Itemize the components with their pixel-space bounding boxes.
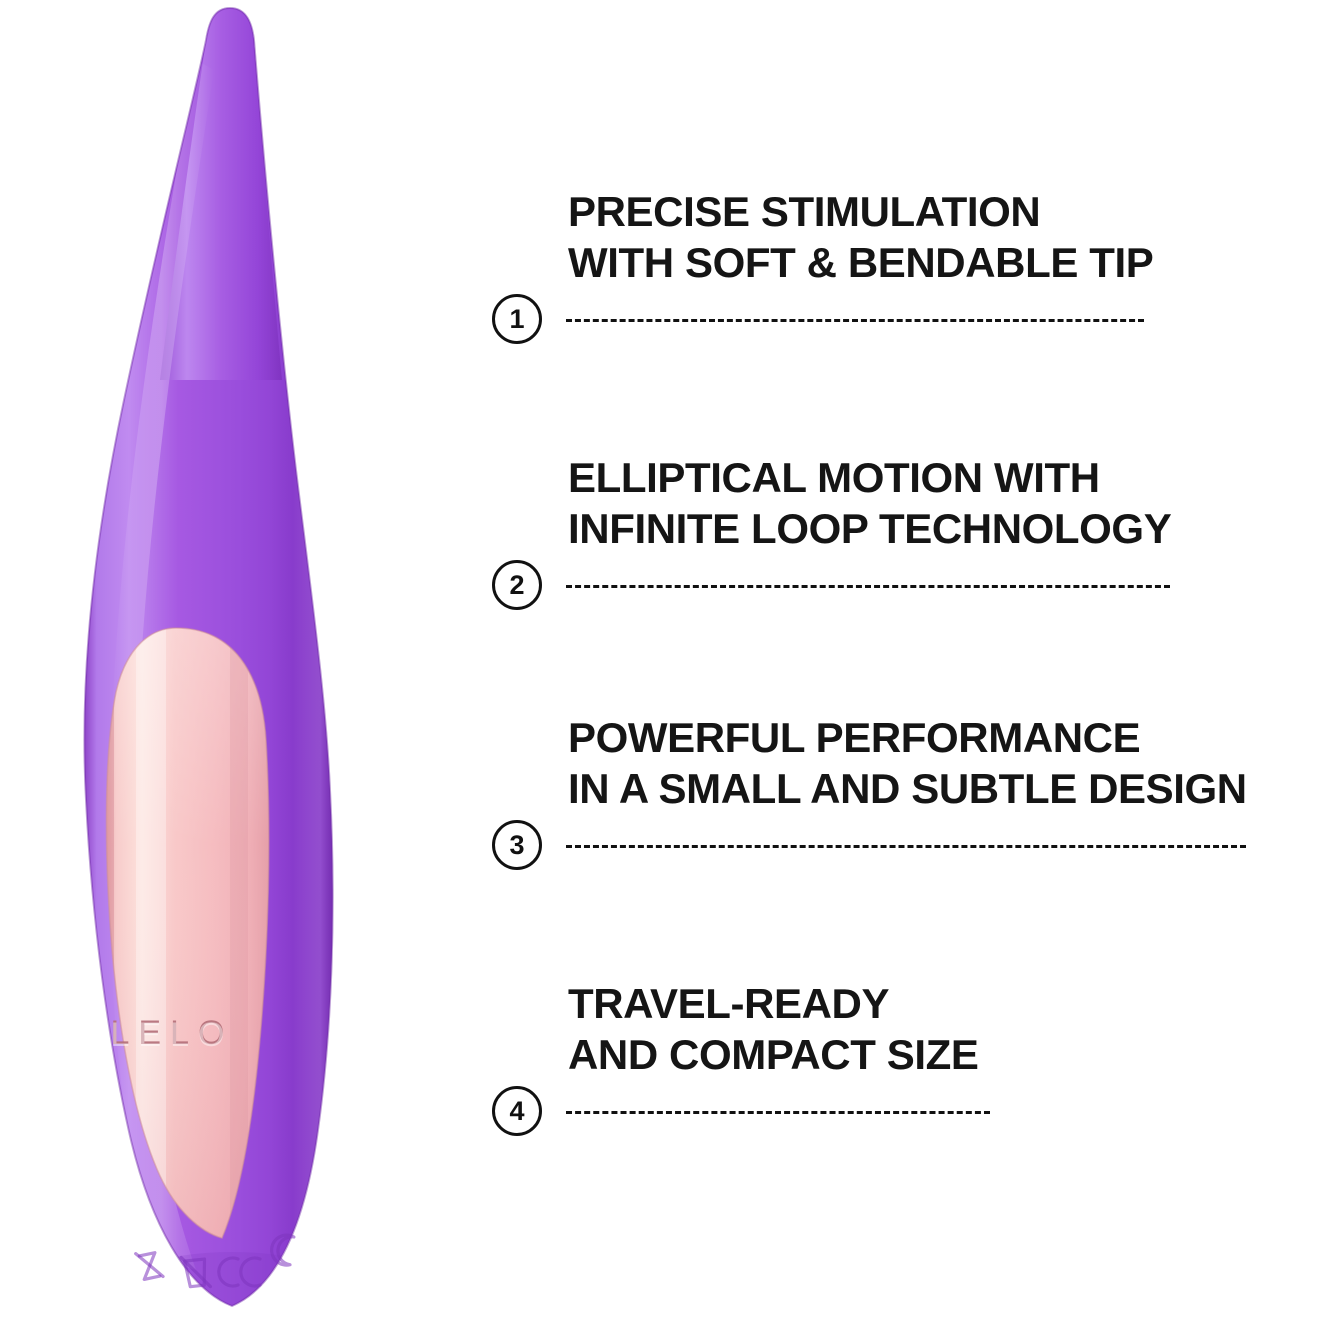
feature-4-heading: TRAVEL-READY AND COMPACT SIZE: [568, 978, 978, 1080]
feature-1-heading-line-2: WITH SOFT & BENDABLE TIP: [568, 237, 1153, 288]
product-image: LELO LELO: [0, 0, 470, 1320]
feature-3-heading: POWERFUL PERFORMANCE IN A SMALL AND SUBT…: [568, 712, 1247, 814]
svg-text:LELO: LELO: [111, 1016, 234, 1054]
feature-3-number-badge: 3: [492, 820, 542, 870]
feature-3-heading-line-1: POWERFUL PERFORMANCE: [568, 714, 1140, 761]
batch-icon: [136, 1249, 163, 1281]
product-feature-infographic: LELO LELO: [0, 0, 1320, 1320]
feature-1-number-badge: 1: [492, 294, 542, 344]
feature-1-heading: PRECISE STIMULATION WITH SOFT & BENDABLE…: [568, 186, 1153, 288]
feature-2-heading-line-2: INFINITE LOOP TECHNOLOGY: [568, 503, 1171, 554]
feature-1-heading-line-1: PRECISE STIMULATION: [568, 188, 1040, 235]
feature-2-heading-line-1: ELLIPTICAL MOTION WITH: [568, 454, 1100, 501]
feature-list: PRECISE STIMULATION WITH SOFT & BENDABLE…: [470, 0, 1320, 1320]
feature-4-number-badge: 4: [492, 1086, 542, 1136]
product-illustration: LELO LELO: [0, 0, 470, 1320]
feature-1-dashed-rule: [566, 319, 1144, 322]
feature-4-heading-line-2: AND COMPACT SIZE: [568, 1029, 978, 1080]
feature-4-heading-line-1: TRAVEL-READY: [568, 980, 889, 1027]
feature-3-heading-line-2: IN A SMALL AND SUBTLE DESIGN: [568, 763, 1247, 814]
feature-2-heading: ELLIPTICAL MOTION WITH INFINITE LOOP TEC…: [568, 452, 1171, 554]
feature-3-dashed-rule: [566, 845, 1246, 848]
feature-2-number-badge: 2: [492, 560, 542, 610]
feature-4-dashed-rule: [566, 1111, 990, 1114]
feature-2-dashed-rule: [566, 585, 1170, 588]
